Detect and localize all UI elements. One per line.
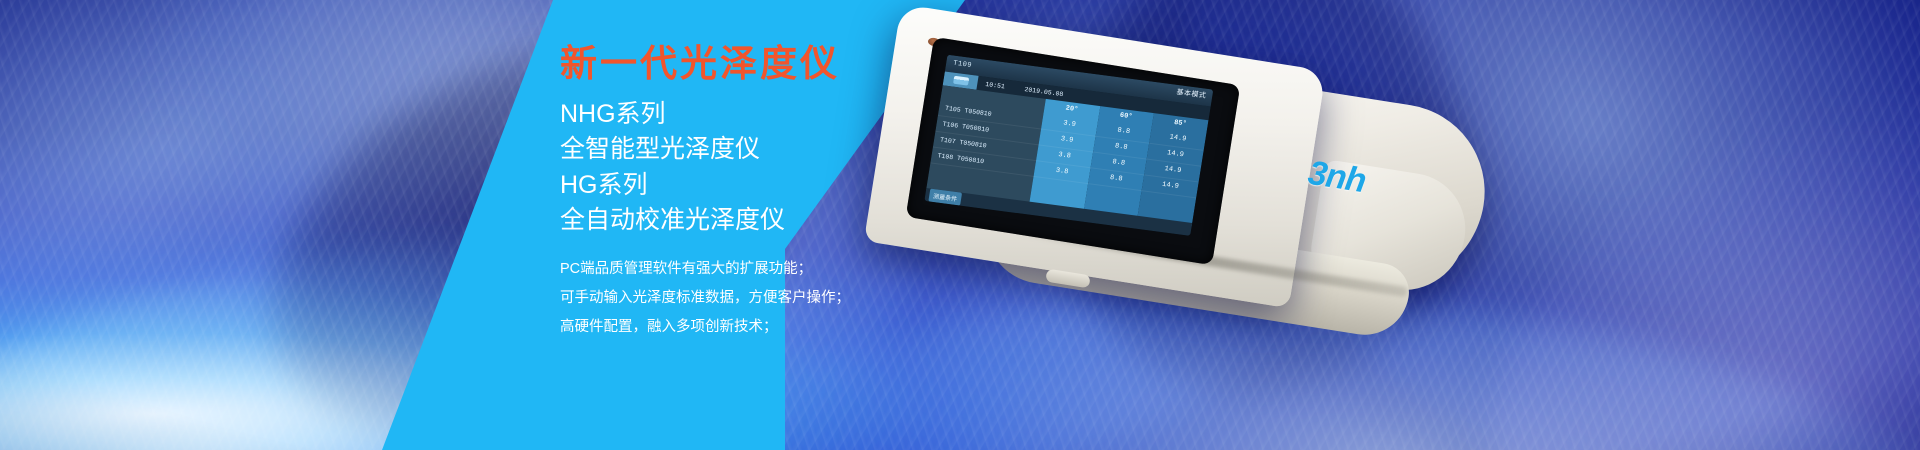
device-screen-ui: T109 基本模式 10:51 2019.05.08 T105 T050810 … [924, 55, 1213, 236]
gloss-meter-device: T109 基本模式 10:51 2019.05.08 T105 T050810 … [860, 20, 1500, 440]
screen-time: 10:51 [977, 79, 1005, 90]
measure-icon-glyph [953, 76, 969, 86]
banner-stage: 新一代光泽度仪 NHG系列 全智能型光泽度仪 HG系列 全自动校准光泽度仪 PC… [0, 0, 1920, 450]
measure-condition-button[interactable]: 测量条件 [928, 189, 962, 206]
sample-name-column: T105 T050810 T106 T050810 T107 T050810 T… [926, 85, 1046, 205]
